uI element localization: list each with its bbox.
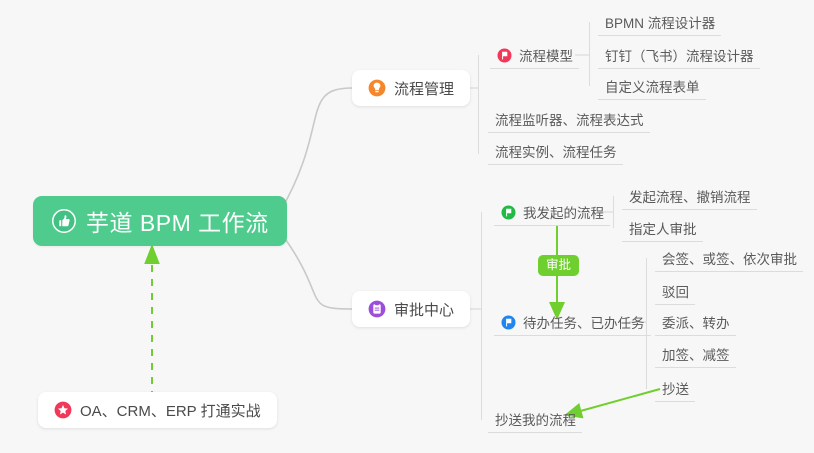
node-dingtalk-feishu-designer[interactable]: 钉钉（飞书）流程设计器 xyxy=(598,42,760,69)
approval-arrow-tag: 审批 xyxy=(538,255,579,276)
bracket-my-started xyxy=(613,196,614,228)
node-label: 指定人审批 xyxy=(629,218,697,238)
node-label: 待办任务、已办任务 xyxy=(523,312,645,332)
node-todo-done-tasks[interactable]: 待办任务、已办任务 xyxy=(494,309,651,336)
bracket-process-mgmt xyxy=(478,55,479,154)
bottom-note-integration[interactable]: OA、CRM、ERP 打通实战 xyxy=(38,392,277,428)
node-label: 自定义流程表单 xyxy=(605,76,700,96)
branch-label: 审批中心 xyxy=(394,299,454,320)
node-process-model[interactable]: 流程模型 xyxy=(490,42,579,69)
clipboard-icon xyxy=(368,300,386,318)
bottom-note-label: OA、CRM、ERP 打通实战 xyxy=(80,400,261,421)
node-label: 会签、或签、依次审批 xyxy=(662,248,797,268)
node-label: BPMN 流程设计器 xyxy=(605,12,715,32)
approval-tag-label: 审批 xyxy=(546,258,571,272)
node-label: 抄送 xyxy=(662,378,689,398)
node-label: 我发起的流程 xyxy=(523,202,604,222)
node-label: 驳回 xyxy=(662,281,689,301)
root-label: 芋道 BPM 工作流 xyxy=(86,204,269,238)
node-reject[interactable]: 驳回 xyxy=(655,278,695,305)
node-label: 钉钉（飞书）流程设计器 xyxy=(605,45,754,65)
mindmap-canvas: 芋道 BPM 工作流 流程管理 流程模型 BPMN 流程设计器 钉钉（飞书）流程… xyxy=(0,0,814,453)
flag-icon xyxy=(501,315,516,330)
lightbulb-icon xyxy=(368,79,386,97)
node-assignee-approval[interactable]: 指定人审批 xyxy=(622,215,703,242)
node-label: 抄送我的流程 xyxy=(495,409,576,429)
node-label: 流程实例、流程任务 xyxy=(495,141,617,161)
branch-approval-center[interactable]: 审批中心 xyxy=(352,291,470,327)
node-label: 流程模型 xyxy=(519,45,573,65)
node-label: 加签、减签 xyxy=(662,344,730,364)
node-label: 发起流程、撤销流程 xyxy=(629,186,751,206)
node-custom-process-form[interactable]: 自定义流程表单 xyxy=(598,73,706,100)
node-my-started-processes[interactable]: 我发起的流程 xyxy=(494,199,610,226)
node-start-cancel-process[interactable]: 发起流程、撤销流程 xyxy=(622,183,757,210)
node-delegate-transfer[interactable]: 委派、转办 xyxy=(655,309,736,336)
node-process-instance-task[interactable]: 流程实例、流程任务 xyxy=(488,138,623,165)
node-label: 委派、转办 xyxy=(662,312,730,332)
bracket-process-model xyxy=(589,22,590,86)
thumbs-up-icon xyxy=(51,208,77,234)
node-countersign-approval[interactable]: 会签、或签、依次审批 xyxy=(655,245,803,272)
node-label: 流程监听器、流程表达式 xyxy=(495,109,644,129)
node-cc-to-me-processes[interactable]: 抄送我的流程 xyxy=(488,406,582,433)
flag-icon xyxy=(501,205,516,220)
branch-label: 流程管理 xyxy=(394,78,454,99)
root-node[interactable]: 芋道 BPM 工作流 xyxy=(33,196,287,246)
branch-process-management[interactable]: 流程管理 xyxy=(352,70,470,106)
node-add-remove-signer[interactable]: 加签、减签 xyxy=(655,341,736,368)
star-icon xyxy=(54,401,72,419)
node-bpmn-designer[interactable]: BPMN 流程设计器 xyxy=(598,9,721,36)
flag-icon xyxy=(497,48,512,63)
node-process-listener-expression[interactable]: 流程监听器、流程表达式 xyxy=(488,106,650,133)
bracket-approval-center xyxy=(481,212,482,420)
node-cc[interactable]: 抄送 xyxy=(655,375,695,402)
